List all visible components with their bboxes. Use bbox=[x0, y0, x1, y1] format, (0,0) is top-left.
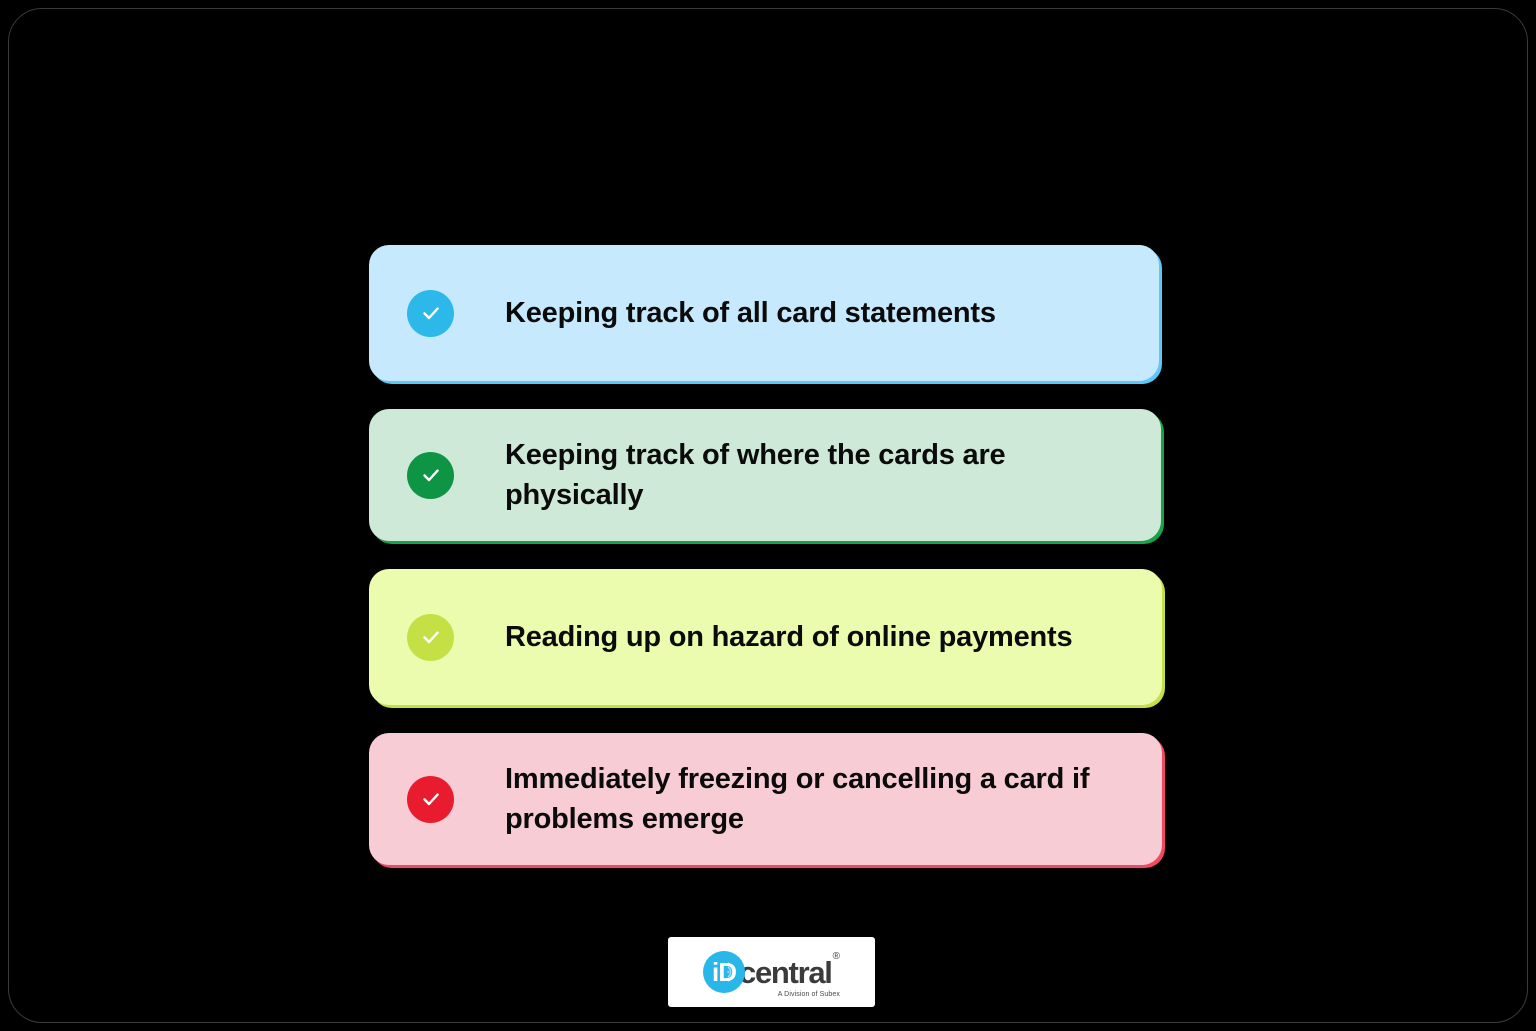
checklist-card-label: Reading up on hazard of online payments bbox=[505, 617, 1072, 657]
check-icon bbox=[407, 614, 454, 661]
check-icon bbox=[407, 776, 454, 823]
checklist-card-4[interactable]: Immediately freezing or cancelling a car… bbox=[369, 733, 1162, 865]
check-icon bbox=[407, 290, 454, 337]
logo-mark-text: iD bbox=[703, 951, 745, 993]
registered-trademark-icon: ® bbox=[833, 951, 840, 962]
logo-tagline: A Division of Subex bbox=[778, 991, 840, 998]
checklist-card-group: Keeping track of all card statements Kee… bbox=[369, 245, 1165, 865]
checklist-card-3[interactable]: Reading up on hazard of online payments bbox=[369, 569, 1162, 705]
idcentral-logo: iD central ® A Division of Subex bbox=[668, 937, 875, 1007]
checklist-card-1[interactable]: Keeping track of all card statements bbox=[369, 245, 1159, 381]
checklist-card-label: Keeping track of all card statements bbox=[505, 293, 996, 333]
checklist-card-label: Immediately freezing or cancelling a car… bbox=[505, 759, 1134, 839]
checklist-card-2[interactable]: Keeping track of where the cards are phy… bbox=[369, 409, 1161, 541]
checklist-card-label: Keeping track of where the cards are phy… bbox=[505, 435, 1133, 515]
fingerprint-icon: iD bbox=[703, 951, 745, 993]
logo-wordmark: central bbox=[739, 957, 832, 988]
check-icon bbox=[407, 452, 454, 499]
slide-frame: Keeping track of all card statements Kee… bbox=[8, 8, 1528, 1023]
logo-inner: iD central ® A Division of Subex bbox=[703, 950, 840, 994]
